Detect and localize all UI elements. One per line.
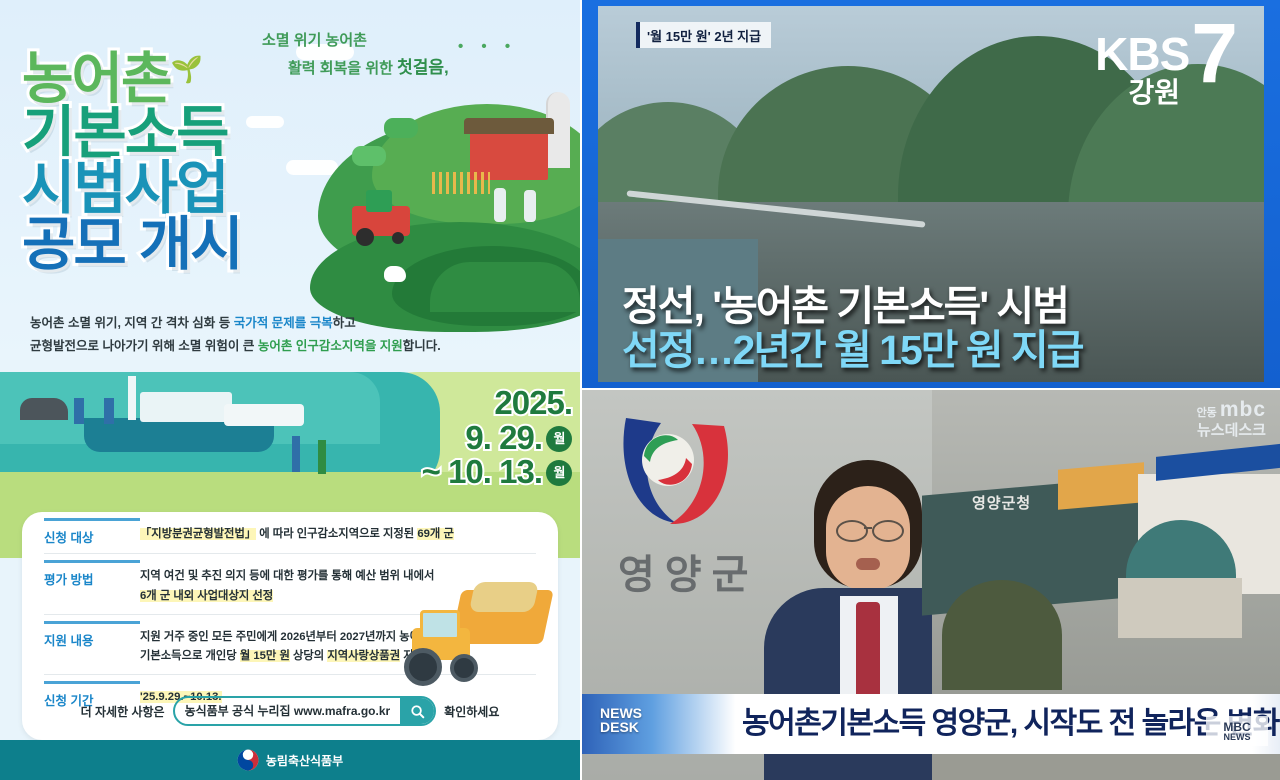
mbc-news-panel: 영양군 영양군청 안동mbc	[582, 390, 1280, 780]
fisher-figure	[104, 398, 114, 424]
boat-cabin	[140, 392, 232, 422]
website-url: 농식품부 공식 누리집 www.mafra.go.kr	[175, 698, 401, 724]
trees-shape	[942, 580, 1062, 690]
kbs-news-panel: '월 15만 원' 2년 지급 KBS7 강원 정선, '농어촌 기본소득' 시…	[582, 0, 1280, 388]
mbc-logo-text: mbc	[1220, 398, 1266, 421]
kbs-video-frame: '월 15만 원' 2년 지급 KBS7 강원 정선, '농어촌 기본소득' 시…	[598, 6, 1264, 382]
weekday-chip-start: 월	[546, 426, 572, 452]
title-line-2: 기본소득	[22, 106, 322, 162]
kbs-caption-tag: '월 15만 원' 2년 지급	[636, 22, 771, 48]
search-icon[interactable]	[400, 698, 434, 724]
entrance-porch	[1118, 578, 1242, 638]
mbc-lower-third: NEWS DESK 농어촌기본소득 영양군, 시작도 전 놀라운 변화	[582, 694, 1280, 754]
info-segment: 「지방분권균형발전법」	[140, 528, 256, 540]
title-line-1: 농어촌🌱	[22, 52, 322, 106]
info-row-label: 지원 내용	[44, 621, 140, 668]
website-pill[interactable]: 농식품부 공식 누리집 www.mafra.go.kr	[173, 696, 437, 726]
info-row: 신청 대상「지방분권균형발전법」 에 따라 인구감소지역으로 지정된 69개 군	[44, 512, 536, 553]
poster-title: 농어촌🌱 기본소득 시범사업 공모 개시	[22, 52, 322, 273]
info-segment: 상당의	[290, 650, 327, 662]
barn-roof	[464, 118, 554, 134]
poster-ministry-footer: 농림축산식품부	[0, 740, 580, 780]
info-segment: 지역사랑상품권	[327, 650, 400, 662]
kbs-logo-text: KBS	[1095, 31, 1189, 77]
building-canopy	[1058, 462, 1144, 510]
bush-shape	[430, 262, 580, 312]
mbc-corner-badge: MBC NEWS	[1206, 716, 1268, 746]
poster-footer-note: 더 자세한 사항은 농식품부 공식 누리집 www.mafra.go.kr 확인…	[22, 696, 558, 726]
chicken-illustration	[384, 266, 406, 282]
newsdesk-line1: NEWS	[600, 706, 642, 720]
info-segment: 지원 거주 중인 모든 주민에게 2026년부터 2027년까지 농어촌	[140, 631, 431, 643]
kbs-logo: KBS7 강원	[1095, 20, 1238, 111]
caption-accent-bar	[636, 22, 640, 48]
tagline-line2-b: 첫걸음,	[397, 58, 449, 77]
boat-mast	[128, 376, 136, 420]
footer-prefix: 더 자세한 사항은	[81, 703, 165, 720]
info-row-label: 평가 방법	[44, 560, 140, 607]
title-line-4: 공모 개시	[22, 217, 322, 273]
tractor-cabin	[366, 190, 392, 212]
mbc-band-headline: 농어촌기본소득 영양군, 시작도 전 놀라운 변화	[742, 700, 1190, 748]
poster-description: 농어촌 소멸 위기, 지역 간 격차 심화 등 국가적 문제를 극복하고 균형발…	[30, 312, 550, 358]
mbc-badge-line1: MBC	[1223, 721, 1250, 733]
info-segment: 6개 군 내외 사업대상지 선정	[140, 590, 273, 602]
caption-tag-text: '월 15만 원' 2년 지급	[647, 26, 761, 45]
speech-bubble-icon	[384, 118, 418, 138]
newsdesk-line2: DESK	[600, 720, 642, 734]
person-figure	[292, 436, 300, 472]
kbs-headline: 정선, '농어촌 기본소득' 시범 선정…2년간 월 15만 원 지급	[622, 285, 1262, 372]
poster-info-card: 신청 대상「지방분권균형발전법」 에 따라 인구감소지역으로 지정된 69개 군…	[22, 512, 558, 740]
info-segment: 월 15만 원	[240, 650, 290, 662]
date-end-row: ~ 10. 13.월	[392, 455, 572, 490]
date-start-row: 9. 29.월	[392, 421, 572, 456]
application-period-dates: 2025. 9. 29.월 ~ 10. 13.월	[392, 386, 572, 490]
kbs-channel-number: 7	[1191, 20, 1238, 87]
person-figure	[318, 440, 326, 474]
mbc-program-label: 뉴스데스크	[1197, 419, 1266, 440]
mbc-region-label: 안동	[1197, 407, 1217, 419]
ministry-name: 농림축산식품부	[266, 752, 343, 769]
info-row-value: 「지방분권균형발전법」 에 따라 인구감소지역으로 지정된 69개 군	[140, 519, 536, 546]
speech-bubble-icon	[352, 146, 386, 166]
info-segment: 지역 여건 및 추진 의지 등에 대한 평가를 통해 예산 범위 내에서	[140, 570, 434, 582]
weekday-chip-end: 월	[546, 460, 572, 486]
tractor-wheel	[392, 232, 404, 244]
title-line-3: 시범사업	[22, 161, 322, 217]
yeongyang-county-emblem-icon	[606, 398, 746, 548]
anchor-mouth	[856, 558, 880, 570]
hay-bale	[469, 582, 539, 612]
glasses-bridge	[864, 527, 872, 529]
fisher-figure	[74, 398, 84, 424]
kbs-headline-line1: 정선, '농어촌 기본소득' 시범	[622, 285, 1262, 328]
kbs-headline-line2: 선정…2년간 월 15만 원 지급	[622, 329, 1262, 372]
farmer-figure	[494, 188, 506, 222]
footer-suffix: 확인하세요	[444, 703, 499, 720]
mbc-logo: 안동mbc 뉴스데스크	[1197, 398, 1266, 440]
rock-shape	[20, 398, 68, 420]
tractor-wheel	[404, 648, 442, 686]
tractor-wheel	[356, 228, 374, 246]
backdrop-county-label: 영양군	[618, 542, 758, 600]
sprout-icon: 🌱	[171, 57, 201, 82]
mbc-badge-line2: NEWS	[1224, 733, 1251, 742]
glasses-left-lens	[836, 520, 868, 542]
wheat-field	[432, 172, 490, 194]
taegeuk-icon	[237, 749, 259, 771]
building-sign: 영양군청	[972, 492, 1034, 508]
dots-decoration: • • •	[458, 38, 517, 55]
poster-panel: 소멸 위기 농어촌 활력 회복을 위한 첫걸음, • • • 농어촌🌱 기본소득…	[0, 0, 580, 780]
description-line-1: 농어촌 소멸 위기, 지역 간 격차 심화 등 국가적 문제를 극복하고	[30, 312, 550, 335]
farmer-figure	[524, 190, 536, 222]
newsdesk-badge: NEWS DESK	[600, 706, 642, 734]
date-year: 2025.	[392, 386, 572, 421]
second-boat	[224, 404, 304, 426]
info-row-label: 신청 대상	[44, 518, 140, 546]
info-segment: 69개 군	[417, 528, 454, 540]
info-segment: 기본소득으로 개인당	[140, 650, 240, 662]
description-line-2: 균형발전으로 나아가기 위해 소멸 위험이 큰 농어촌 인구감소지역을 지원합니…	[30, 335, 550, 358]
tagline-line1: 소멸 위기 농어촌	[262, 32, 367, 49]
glasses-right-lens	[872, 520, 904, 542]
tractor-wheel	[450, 654, 478, 682]
info-segment: 에 따라 인구감소지역으로 지정된	[256, 528, 417, 540]
tractor-cab	[420, 610, 460, 640]
screenshot-collage: 소멸 위기 농어촌 활력 회복을 위한 첫걸음, • • • 농어촌🌱 기본소득…	[0, 0, 1280, 780]
tractor-hay-illustration	[402, 584, 552, 694]
